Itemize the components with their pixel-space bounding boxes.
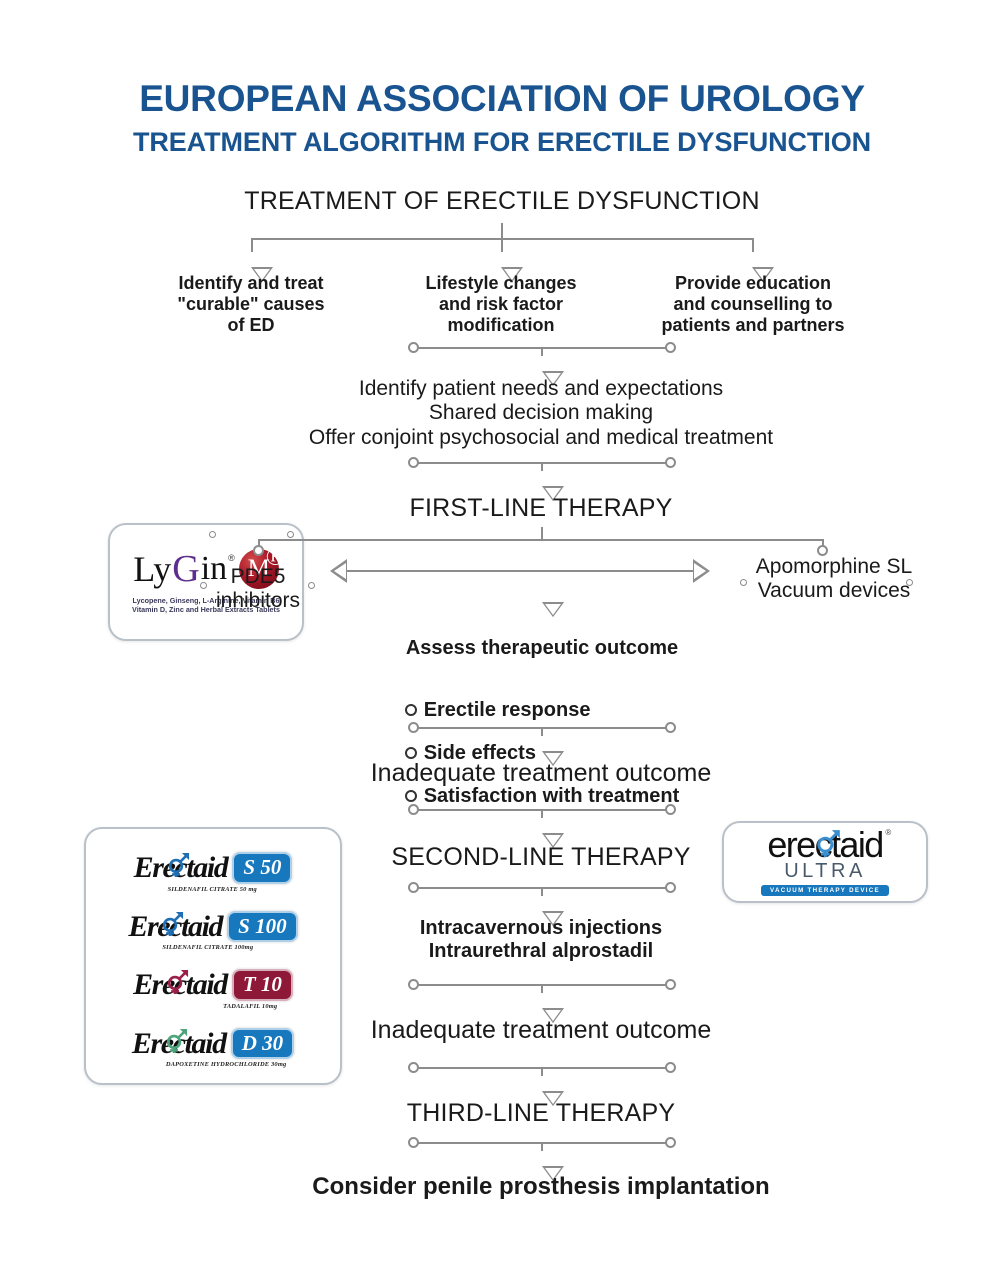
arrow-tip-left bbox=[330, 559, 347, 583]
connector-branch-left-drop bbox=[251, 238, 253, 252]
list-item: Erectile response bbox=[405, 698, 680, 722]
bullet-circle-icon bbox=[405, 704, 417, 716]
connector-dot-inadequate-2-left bbox=[408, 979, 419, 990]
gender-symbol-icon bbox=[164, 968, 190, 994]
erectaid-logo: Erectaid SILDENAFIL CITRATE 100mg bbox=[128, 912, 222, 942]
erectaid-subtitle: SILDENAFIL CITRATE 50 mg bbox=[168, 887, 257, 893]
erectaid-logo: Erectaid SILDENAFIL CITRATE 50 mg bbox=[134, 853, 228, 883]
connector-stem-third-line bbox=[541, 1067, 543, 1076]
connector-stem-to-needs bbox=[541, 347, 543, 356]
erectaid-subtitle: TADALAFIL 10mg bbox=[223, 1004, 277, 1010]
node-first-line-therapy: FIRST-LINE THERAPY bbox=[270, 494, 812, 523]
connector-stem-inadequate-1 bbox=[541, 727, 543, 736]
connector-nub-pde5-left bbox=[200, 582, 207, 589]
node-inadequate-outcome-2: Inadequate treatment outcome bbox=[270, 1016, 812, 1045]
page-subtitle: TREATMENT ALGORITHM FOR ERECTILE DYSFUNC… bbox=[0, 126, 1004, 158]
gender-symbol-icon bbox=[813, 828, 842, 857]
gender-symbol-icon bbox=[159, 910, 185, 936]
node-patient-needs: Identify patient needs and expectations … bbox=[270, 377, 812, 450]
erectaid-subtitle: DAPOXETINE HYDROCHLORIDE 30mg bbox=[166, 1062, 287, 1068]
assess-title: Assess therapeutic outcome bbox=[340, 637, 744, 660]
connector-stem-second-line bbox=[541, 809, 543, 818]
connector-dot-second-line-right bbox=[665, 804, 676, 815]
connector-dot-first-line-right bbox=[665, 457, 676, 468]
node-education-counselling: Provide education and counselling to pat… bbox=[640, 273, 866, 336]
connector-stem-to-first-line bbox=[541, 462, 543, 471]
node-penile-prosthesis: Consider penile prosthesis implantation bbox=[200, 1173, 882, 1201]
lygin-name-part1: Ly bbox=[133, 551, 171, 587]
connector-dot-third-line-right bbox=[665, 1062, 676, 1073]
node-inadequate-outcome-1: Inadequate treatment outcome bbox=[270, 759, 812, 788]
page-header: EUROPEAN ASSOCIATION OF UROLOGY TREATMEN… bbox=[0, 0, 1004, 159]
connector-nub-apo-right bbox=[906, 579, 913, 586]
connector-stem-injections bbox=[541, 887, 543, 896]
erectaid-logo: Erectaid TADALAFIL 10mg bbox=[133, 970, 227, 1000]
connector-dot-final-left bbox=[408, 1137, 419, 1148]
node-pde5-inhibitors: PDE5 inhibitors bbox=[178, 565, 338, 614]
connector-dot-third-line-left bbox=[408, 1062, 419, 1073]
erectaid-ultra-badge: VACUUM THERAPY DEVICE bbox=[761, 885, 889, 896]
connector-dot-first-line-left bbox=[408, 457, 419, 468]
erectaid-strength-badge: T 10 bbox=[232, 969, 293, 1001]
node-lifestyle-changes: Lifestyle changes and risk factor modifi… bbox=[396, 273, 606, 336]
arrow-shaft bbox=[346, 570, 694, 572]
connector-dot-final-right bbox=[665, 1137, 676, 1148]
node-root: TREATMENT OF ERECTILE DYSFUNCTION bbox=[0, 187, 1004, 216]
connector-stem-inadequate-2 bbox=[541, 984, 543, 993]
bullet-circle-icon bbox=[405, 790, 417, 802]
connector-stem-final bbox=[541, 1142, 543, 1151]
gender-symbol-icon bbox=[163, 1027, 189, 1053]
connector-nub-lygin-top bbox=[209, 531, 216, 538]
connector-first-line-bus bbox=[258, 539, 824, 541]
connector-dot-inadequate-1-left bbox=[408, 722, 419, 733]
connector-branch-center-drop bbox=[501, 238, 503, 252]
gender-symbol-icon bbox=[165, 851, 191, 877]
connector-nub-pde5-right bbox=[308, 582, 315, 589]
connector-dot-needs-right bbox=[665, 342, 676, 353]
connector-nub-lygin-right bbox=[287, 531, 294, 538]
node-third-line-therapy: THIRD-LINE THERAPY bbox=[270, 1099, 812, 1128]
list-item[interactable]: Erectaid TADALAFIL 10mg T 10 bbox=[94, 969, 332, 1001]
assess-item-label: Erectile response bbox=[424, 698, 591, 722]
connector-dot-injections-left bbox=[408, 882, 419, 893]
treatment-algorithm-flowchart: TREATMENT OF ERECTILE DYSFUNCTION Identi… bbox=[0, 187, 1004, 1247]
connector-dot-needs-left bbox=[408, 342, 419, 353]
arrow-tip-right bbox=[693, 559, 710, 583]
connector-dot-inadequate-2-right bbox=[665, 979, 676, 990]
node-identify-curable-causes: Identify and treat "curable" causes of E… bbox=[146, 273, 356, 336]
connector-dot-pde5 bbox=[253, 545, 264, 556]
connector-dot-second-line-left bbox=[408, 804, 419, 815]
node-second-line-detail: Intracavernous injections Intraurethral … bbox=[270, 917, 812, 963]
connector-branch-right-drop bbox=[752, 238, 754, 252]
erectaid-logo: Erectaid DAPOXETINE HYDROCHLORIDE 30mg bbox=[132, 1029, 226, 1059]
registered-trademark-icon: ® bbox=[885, 829, 889, 837]
node-second-line-therapy: SECOND-LINE THERAPY bbox=[270, 843, 812, 872]
erectaid-subtitle: SILDENAFIL CITRATE 100mg bbox=[162, 945, 253, 951]
arrow-to-assess bbox=[542, 602, 564, 617]
node-assess-outcome: Assess therapeutic outcome Erectile resp… bbox=[340, 619, 744, 827]
bullet-circle-icon bbox=[405, 747, 417, 759]
page-title: EUROPEAN ASSOCIATION OF UROLOGY bbox=[0, 78, 1004, 119]
registered-trademark-icon: ® bbox=[228, 553, 235, 563]
connector-dot-inadequate-1-right bbox=[665, 722, 676, 733]
connector-nub-apo-left bbox=[740, 579, 747, 586]
connector-root-stem bbox=[501, 223, 503, 239]
bidirectional-arrow-first-line bbox=[330, 559, 710, 583]
connector-dot-injections-right bbox=[665, 882, 676, 893]
